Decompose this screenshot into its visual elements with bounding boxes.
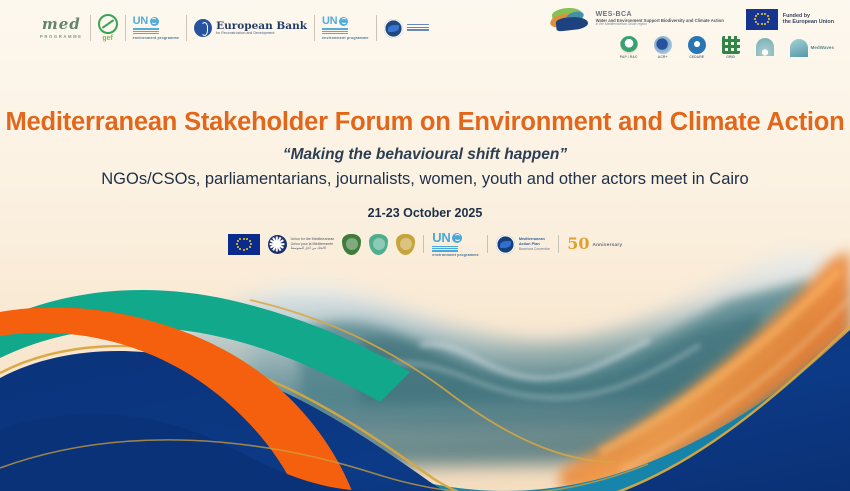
un-bars-icon [322,28,348,35]
un-globe-icon [150,17,159,26]
page-title: Mediterranean Stakeholder Forum on Envir… [0,108,850,137]
eu-star-icon [237,246,239,248]
wes-bca-note: in the Mediterranean South region [596,23,724,27]
partner-logo-grid: GRID [722,36,740,59]
un-subtitle: environment programme [432,254,479,258]
eu-star-icon [761,23,763,25]
partner-caption: MedWaves [811,45,834,50]
eu-star-icon [768,18,770,20]
un-environment-logo-2: UN environment programme [322,16,369,40]
partner-caption: ACR+ [658,55,668,59]
partner-logo-arch [756,38,774,57]
ebrd-subtitle: for Reconstruction and Development [216,32,307,36]
eu-star-icon [761,13,763,15]
50th-anniversary-logo: 50 Anniversary [567,236,622,252]
un-subtitle: environment programme [133,37,180,41]
medwaves-icon [790,39,808,57]
divider [376,15,377,41]
eu-star-icon [764,23,766,25]
un-environment-logo-1: UN environment programme [133,16,180,40]
eu-star-icon [757,13,759,15]
un-subtitle: environment programme [322,37,369,41]
eu-star-icon [243,238,245,240]
arch-icon [756,38,774,56]
med-programme-subtitle: PROGRAMME [40,34,83,39]
divider [487,235,488,253]
map-globe-icon [496,235,515,254]
header-right-partner-row: PAP / RAC ACR+ CEDARE GRID MedWaves [620,36,834,59]
ufm-star-icon [268,235,287,254]
map-globe-icon [384,19,403,38]
divider [314,15,315,41]
partner-crest-teal [369,234,388,255]
un-environment-programme-logo: UN environment programme [432,231,479,257]
partner-caption: CEDARE [689,55,704,59]
eu-star-icon [249,240,251,242]
eu-star-icon [249,246,251,248]
divider [423,235,424,253]
eu-star-icon [250,243,252,245]
eu-star-icon [237,240,239,242]
un-globe-icon [452,233,462,243]
ebrd-mark-icon [194,19,212,37]
funded-by-line2: the European Union [783,19,834,25]
un-wordmark: UN [432,231,450,244]
med-programme-logo: med PROGRAMME [40,17,83,39]
un-globe-icon [339,17,348,26]
gef-ring-icon [98,14,118,34]
partner-logo-medwaves: MedWaves [790,39,834,57]
union-for-the-mediterranean-logo: Union for the Mediterranean Union pour l… [268,235,335,254]
european-union-flag [228,234,260,255]
anniversary-label: Anniversary [592,242,622,247]
un-bars-icon [432,246,458,253]
partner-logo-acr: ACR+ [654,36,672,59]
un-wordmark: UN [133,16,148,27]
eu-star-icon [767,21,769,23]
gef-logo: gef [98,14,118,42]
eu-star-icon [754,18,756,20]
eu-star-icon [243,249,245,251]
header-right-top-row: WES-BCA Water and Environment Support Bi… [550,6,834,32]
event-dates: 21-23 October 2025 [0,206,850,220]
eu-star-icon [755,21,757,23]
eu-flag-icon [746,9,778,30]
eu-star-icon [764,13,766,15]
gef-label: gef [102,35,113,42]
eu-star-icon [767,15,769,17]
map-line-3: Barcelona Convention [519,247,550,251]
partner-crest-gold [396,234,415,255]
footer-logo-strip: Union for the Mediterranean Union pour l… [0,231,850,257]
eu-star-icon [236,243,238,245]
un-wordmark: UN [322,16,337,27]
acr-icon [654,36,672,54]
anniversary-number: 50 [567,236,589,252]
un-bars-icon [133,28,159,35]
partner-logo-pap-rac: PAP / RAC [620,36,638,59]
ufm-line-3: الاتحاد من أجل المتوسط [291,246,335,251]
partner-logo-cedare: CEDARE [688,36,706,59]
eu-star-icon [246,248,248,250]
grid-icon [722,36,740,54]
wes-bca-emblem-icon [550,6,590,32]
ebrd-logo: European Bank for Reconstruction and Dev… [194,19,307,37]
mediterranean-action-plan-logo [384,19,429,38]
partner-crest-green [342,234,361,255]
partner-caption: PAP / RAC [620,55,638,59]
divider [90,15,91,41]
eu-star-icon [246,238,248,240]
header-right-logo-group: WES-BCA Water and Environment Support Bi… [550,6,834,59]
eu-star-icon [755,15,757,17]
event-tagline: “Making the behavioural shift happen” [0,146,850,164]
partner-caption: GRID [726,55,735,59]
cedare-icon [688,36,706,54]
map-text-lines [407,24,429,33]
event-poster: med PROGRAMME gef UN environment program… [0,0,850,491]
divider [186,15,187,41]
wes-bca-logo: WES-BCA Water and Environment Support Bi… [550,6,724,32]
divider [125,15,126,41]
pap-rac-icon [620,36,638,54]
eu-star-icon [239,238,241,240]
eu-star-icon [757,23,759,25]
divider [558,235,559,253]
funded-by-eu-logo: Funded by the European Union [746,9,834,30]
med-programme-script: med [42,17,81,32]
header-left-logo-group: med PROGRAMME gef UN environment program… [40,14,429,42]
eu-star-icon [239,248,241,250]
event-audience-line: NGOs/CSOs, parliamentarians, journalists… [0,170,850,189]
mediterranean-action-plan-logo-footer: Mediterranean Action Plan Barcelona Conv… [496,235,550,254]
